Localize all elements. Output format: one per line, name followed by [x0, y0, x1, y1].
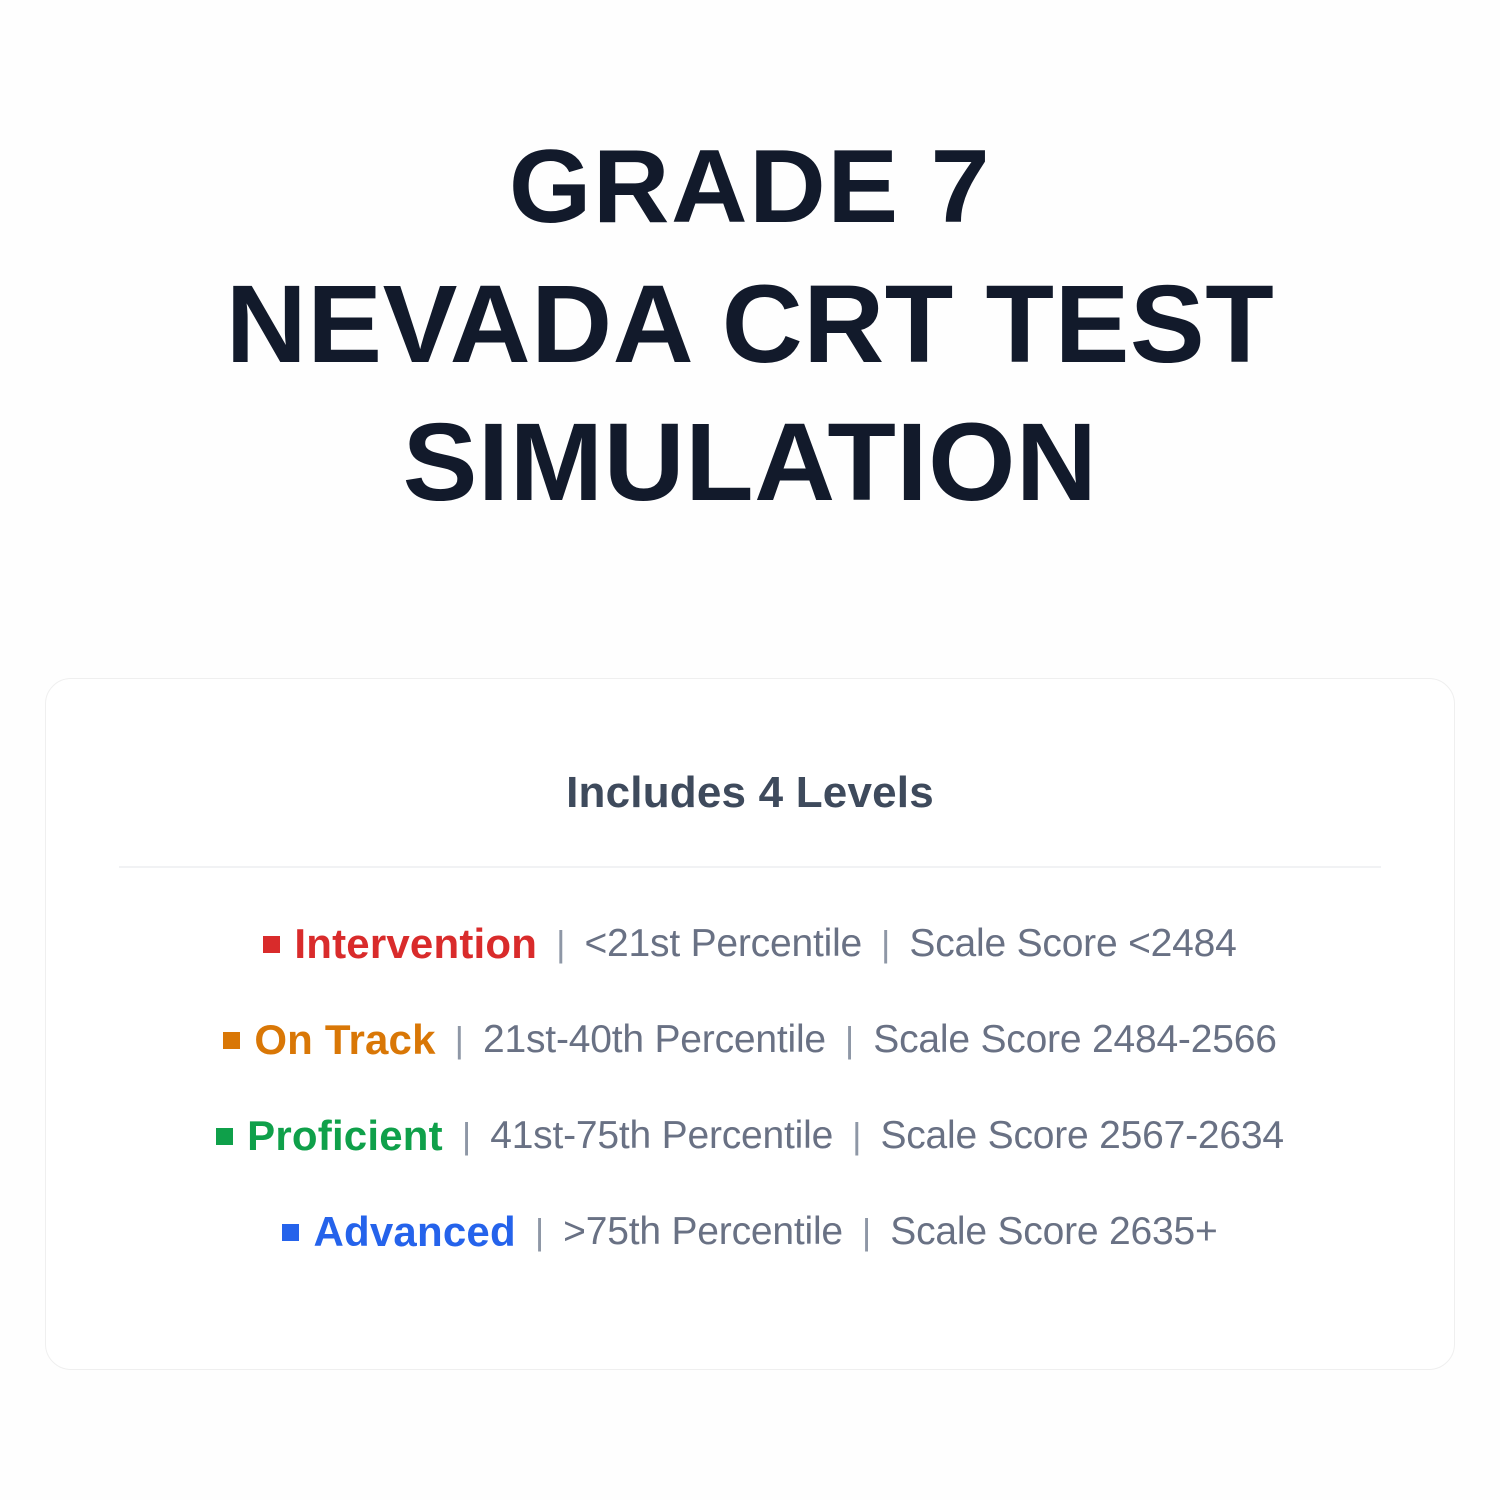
square-bullet-icon	[223, 1032, 240, 1049]
page-title-line-1: GRADE 7	[0, 118, 1500, 256]
level-scale-score: Scale Score <2484	[909, 920, 1236, 968]
level-separator: |	[826, 1016, 873, 1064]
level-name: Proficient	[247, 1112, 443, 1160]
level-row-intervention: Intervention | <21st Percentile | Scale …	[46, 896, 1454, 992]
level-scale-score: Scale Score 2567-2634	[880, 1112, 1283, 1160]
level-row-proficient: Proficient | 41st-75th Percentile | Scal…	[46, 1088, 1454, 1184]
level-scale-score: Scale Score 2635+	[890, 1208, 1217, 1256]
level-percentile: >75th Percentile	[563, 1208, 843, 1256]
level-name: Intervention	[294, 920, 537, 968]
page-title-line-3: SIMULATION	[0, 394, 1500, 532]
level-scale-score: Scale Score 2484-2566	[873, 1016, 1276, 1064]
level-separator: |	[443, 1112, 490, 1160]
level-row-advanced: Advanced | >75th Percentile | Scale Scor…	[46, 1184, 1454, 1280]
level-separator: |	[862, 920, 909, 968]
level-separator: |	[833, 1112, 880, 1160]
level-separator: |	[436, 1016, 483, 1064]
level-name: On Track	[254, 1016, 435, 1064]
levels-list: Intervention | <21st Percentile | Scale …	[46, 868, 1454, 1280]
level-separator: |	[537, 920, 584, 968]
page-title: GRADE 7 NEVADA CRT TEST SIMULATION	[0, 0, 1500, 532]
page-title-line-2: NEVADA CRT TEST	[0, 256, 1500, 394]
level-name: Advanced	[313, 1208, 515, 1256]
level-separator: |	[516, 1208, 563, 1256]
level-row-on-track: On Track | 21st-40th Percentile | Scale …	[46, 992, 1454, 1088]
square-bullet-icon	[263, 936, 280, 953]
square-bullet-icon	[282, 1224, 299, 1241]
square-bullet-icon	[216, 1128, 233, 1145]
level-percentile: 21st-40th Percentile	[483, 1016, 826, 1064]
levels-card: Includes 4 Levels Intervention | <21st P…	[45, 678, 1455, 1370]
level-percentile: 41st-75th Percentile	[490, 1112, 833, 1160]
level-separator: |	[843, 1208, 890, 1256]
levels-card-heading: Includes 4 Levels	[46, 679, 1454, 821]
level-percentile: <21st Percentile	[584, 920, 862, 968]
